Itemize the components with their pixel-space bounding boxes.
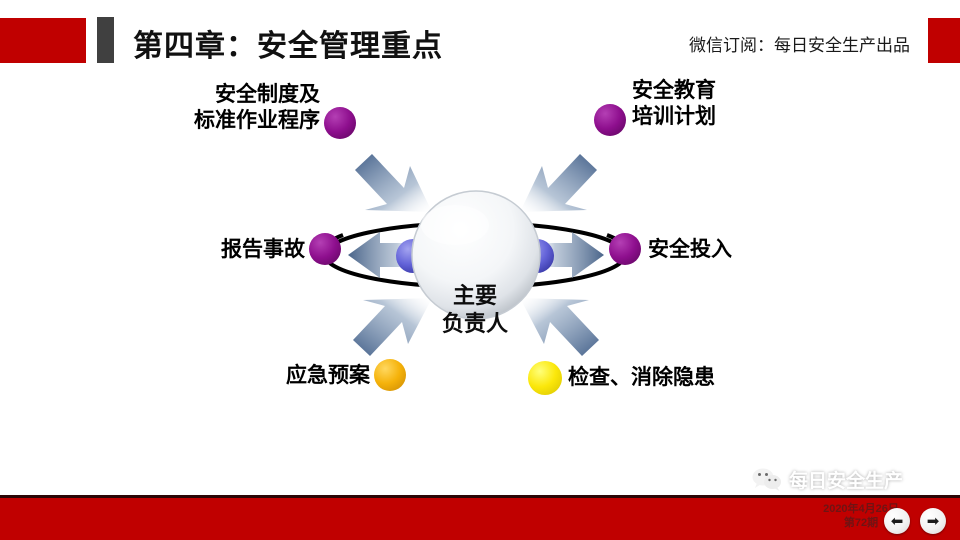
node-label-safety-system: 安全制度及 标准作业程序: [155, 82, 320, 133]
node-label-safety-investment: 安全投入: [648, 237, 808, 262]
arrow-to-safety-system: [355, 154, 432, 212]
wechat-brand: 每日安全生产: [752, 466, 903, 493]
node-label-emergency-plan: 应急预案: [225, 363, 370, 388]
wechat-account-name: 每日安全生产: [789, 466, 903, 493]
header-subscription-note: 微信订阅：每日安全生产出品: [689, 31, 910, 56]
header-gray-block: [97, 17, 114, 63]
node-dot-safety-system: [324, 107, 356, 139]
node-label-safety-system-line2: 标准作业程序: [155, 108, 320, 134]
node-label-report-accident: 报告事故: [160, 237, 305, 262]
node-label-safety-education-line1: 安全教育: [632, 78, 812, 104]
node-label-safety-system-line1: 安全制度及: [155, 82, 320, 108]
node-label-inspect-hazard: 检查、消除隐患: [568, 365, 798, 390]
node-label-safety-education-line2: 培训计划: [632, 104, 812, 130]
header-red-block-right: [928, 18, 960, 63]
hub-highlight: [421, 205, 489, 245]
hub-and-spoke-diagram: 安全制度及 标准作业程序 安全教育 培训计划 报告事故 安全投入 应急预案 检查…: [0, 60, 960, 460]
node-dot-safety-investment: [609, 233, 641, 265]
arrow-right-icon: ➡: [927, 514, 940, 529]
arrow-to-inspect-hazard: [520, 298, 599, 356]
arrow-to-emergency-plan: [353, 298, 432, 356]
next-slide-button[interactable]: ➡: [920, 508, 946, 534]
node-dot-emergency-plan: [374, 359, 406, 391]
diagram-graphics: [0, 60, 960, 460]
node-label-safety-education: 安全教育 培训计划: [632, 78, 812, 129]
arrow-left-icon: ⬅: [891, 514, 904, 529]
node-dot-inspect-hazard: [528, 361, 562, 395]
arrow-to-safety-education: [520, 154, 597, 212]
slide: 第四章：安全管理重点 微信订阅：每日安全生产出品: [0, 0, 960, 540]
header-red-block-left: [0, 18, 86, 63]
previous-slide-button[interactable]: ⬅: [884, 508, 910, 534]
wechat-icon: [752, 467, 782, 492]
page-title: 第四章：安全管理重点: [133, 21, 443, 65]
node-dot-report-accident: [309, 233, 341, 265]
node-dot-safety-education: [594, 104, 626, 136]
